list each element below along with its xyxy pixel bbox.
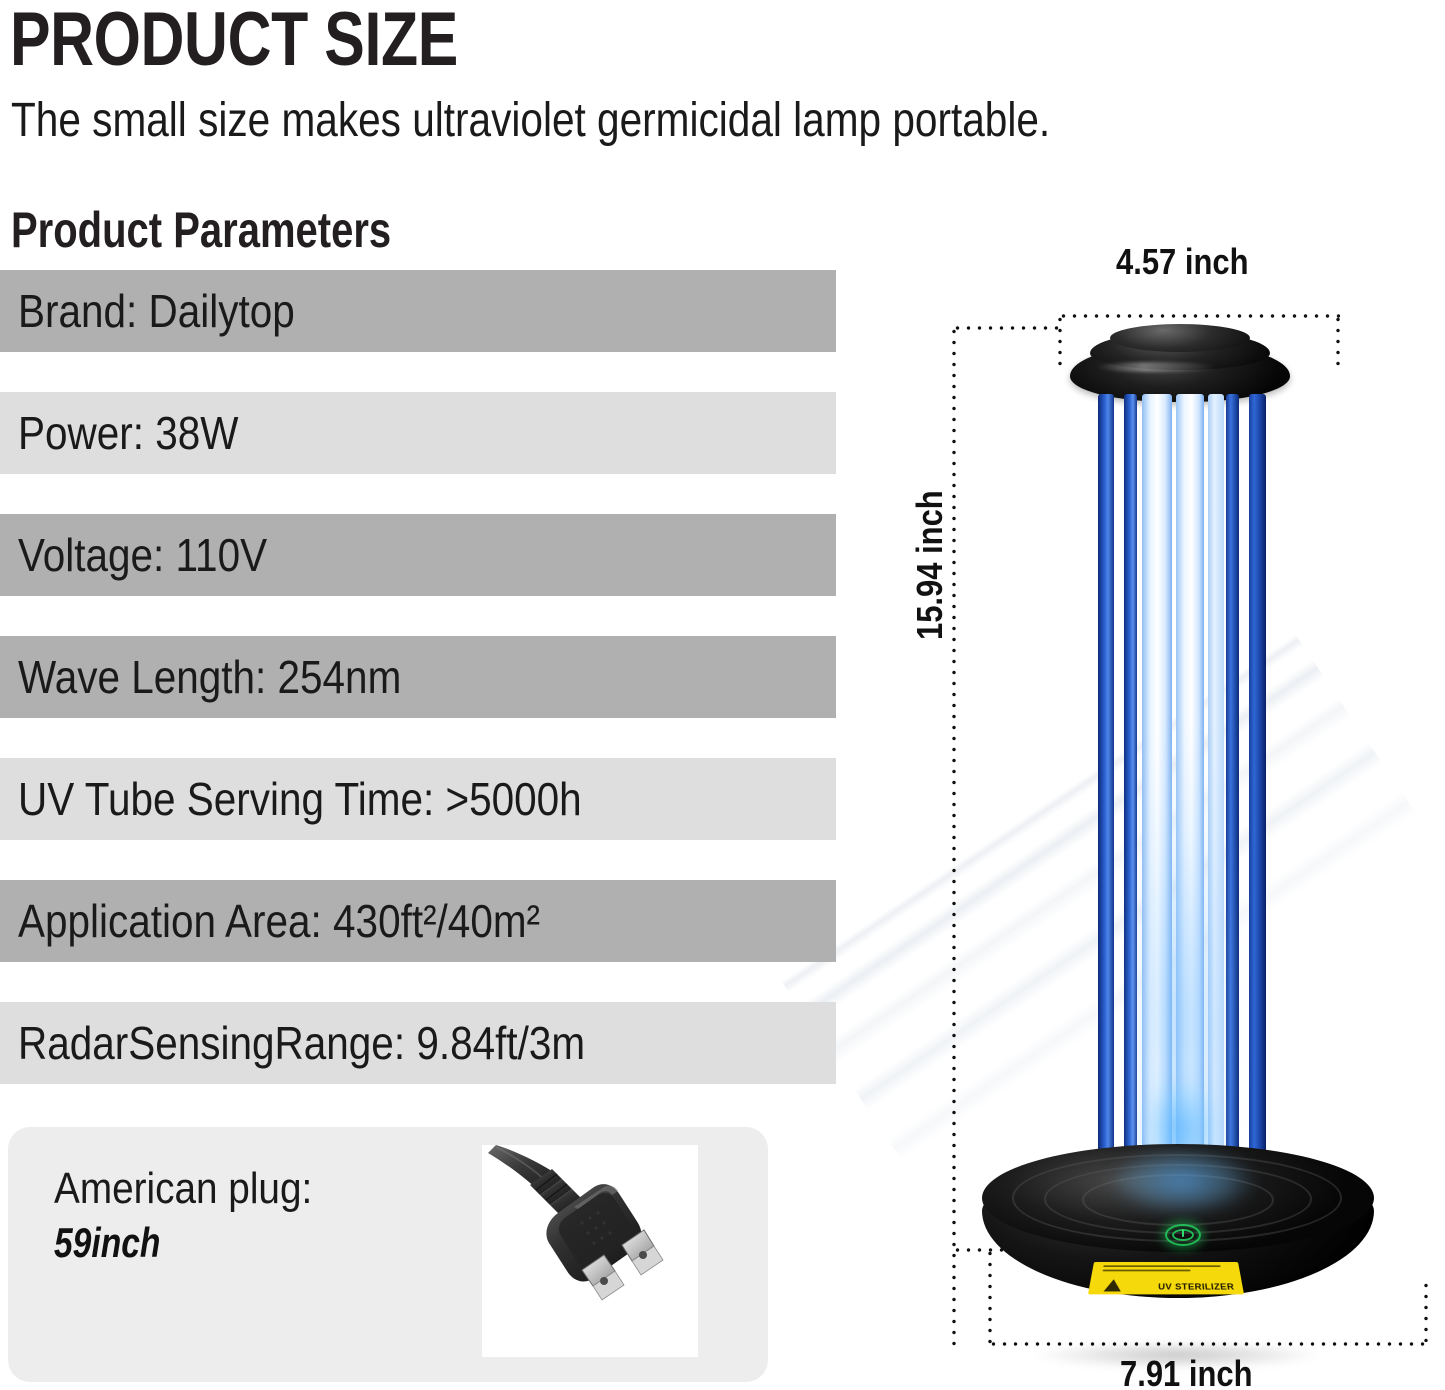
- param-row-power: Power: 38W: [0, 392, 836, 474]
- param-row-text: Wave Length: 254nm: [18, 652, 401, 702]
- product-size-infographic: PRODUCT SIZE The small size makes ultrav…: [0, 0, 1445, 1390]
- warning-label-text: UV STERILIZER: [1158, 1282, 1235, 1291]
- param-row-voltage: Voltage: 110V: [0, 514, 836, 596]
- warning-label-fine-print: [1102, 1265, 1226, 1274]
- lamp-base: UV STERILIZER: [982, 1144, 1374, 1326]
- uv-tube-glow-center-right: [1176, 394, 1204, 1164]
- dimension-guide-bottom-right: [1424, 1280, 1428, 1342]
- dimension-label-height: 15.94 inch: [910, 490, 950, 640]
- lamp-drop-shadow: [996, 1338, 1360, 1372]
- hazard-triangle-icon: [1104, 1279, 1123, 1291]
- uv-tube-assembly: [1098, 394, 1266, 1164]
- param-row-brand: Brand: Dailytop: [0, 270, 836, 352]
- product-parameters-list: Brand: Dailytop Power: 38W Voltage: 110V…: [0, 270, 836, 1124]
- param-row-radar-sensing-range: RadarSensingRange: 9.84ft/3m: [0, 1002, 836, 1084]
- lamp-top-cap-dome: [1110, 324, 1250, 352]
- param-row-text: UV Tube Serving Time: >5000h: [18, 774, 582, 824]
- plug-label-line1: American plug:: [54, 1163, 388, 1215]
- american-plug-panel: American plug: 59inch: [8, 1127, 768, 1382]
- dimension-guide-height-line: [952, 326, 956, 1350]
- uv-tube-right: [1226, 394, 1239, 1164]
- param-row-text: Power: 38W: [18, 408, 238, 458]
- param-row-text: Voltage: 110V: [18, 530, 267, 580]
- uv-tube-left: [1124, 394, 1137, 1164]
- param-row-text: RadarSensingRange: 9.84ft/3m: [18, 1018, 585, 1068]
- lamp-base-uv-glow: [1098, 1150, 1268, 1224]
- uv-tube-glow-right: [1208, 394, 1224, 1164]
- dimension-label-top-width: 4.57 inch: [1116, 242, 1249, 282]
- uv-sterilizer-warning-label: UV STERILIZER: [1088, 1262, 1244, 1294]
- uv-tube-outer-right: [1249, 394, 1266, 1164]
- uv-tube-outer-left: [1098, 394, 1114, 1164]
- lamp-top-cap-highlight: [1096, 362, 1216, 372]
- param-row-text: Brand: Dailytop: [18, 286, 295, 336]
- param-row-uv-tube-serving-time: UV Tube Serving Time: >5000h: [0, 758, 836, 840]
- power-plug-image: [482, 1145, 698, 1357]
- power-icon: [1182, 1229, 1185, 1237]
- uv-tube-glow-center-left: [1142, 394, 1172, 1164]
- page-title: PRODUCT SIZE: [10, 0, 458, 82]
- param-row-wave-length: Wave Length: 254nm: [0, 636, 836, 718]
- plug-label-line2: 59inch: [54, 1219, 358, 1267]
- page-subtitle: The small size makes ultraviolet germici…: [11, 92, 1050, 150]
- section-title-product-parameters: Product Parameters: [11, 202, 391, 258]
- param-row-text: Application Area: 430ft²/40m²: [18, 896, 540, 946]
- power-button[interactable]: [1165, 1224, 1201, 1246]
- param-row-application-area: Application Area: 430ft²/40m²: [0, 880, 836, 962]
- uv-germicidal-lamp-product: UV STERILIZER: [978, 316, 1378, 1326]
- product-image-with-dimensions: 4.57 inch 15.94 inch 7.91 inch: [930, 230, 1440, 1390]
- plug-label: American plug: 59inch: [54, 1163, 434, 1267]
